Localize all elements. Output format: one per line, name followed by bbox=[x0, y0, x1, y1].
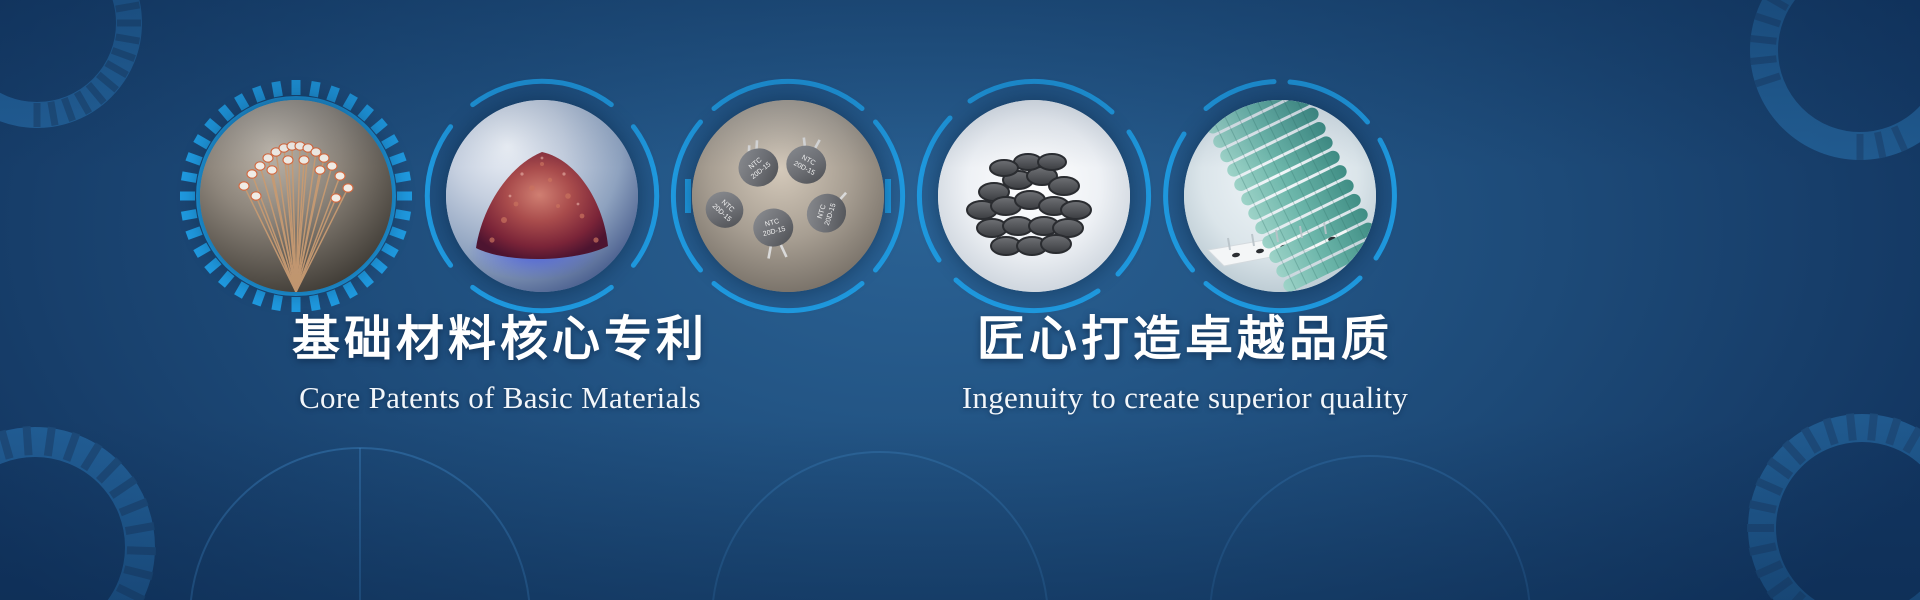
headline-cn: 匠心打造卓越品质 bbox=[810, 310, 1560, 370]
headline-en: Core Patents of Basic Materials bbox=[150, 376, 850, 420]
photo-coated-resistors bbox=[1184, 100, 1376, 292]
bottom-right-arc-icon bbox=[1200, 436, 1540, 600]
product-circle-coated-resistors[interactable] bbox=[1170, 86, 1390, 306]
product-circle-ntc-thermistors[interactable]: NTC 20D-15 NTC 20D-15 bbox=[678, 86, 898, 306]
bottom-left-gear-icon bbox=[0, 412, 170, 600]
product-circle-lead-wires[interactable] bbox=[186, 86, 406, 306]
product-circle-row: NTC 20D-15 NTC 20D-15 bbox=[0, 86, 1920, 306]
product-circle-red-powder[interactable] bbox=[432, 86, 652, 306]
photo-ceramic-discs bbox=[938, 100, 1130, 292]
headline-cn: 基础材料核心专利 bbox=[150, 310, 850, 370]
photo-red-powder bbox=[446, 100, 638, 292]
ceramic-disc-art bbox=[938, 100, 1130, 292]
ntc-thermistor-art: NTC 20D-15 NTC 20D-15 bbox=[692, 100, 884, 292]
photo-lead-wires bbox=[200, 100, 392, 292]
bottom-center-arc-icon bbox=[700, 430, 1060, 600]
headline-superior-quality: 匠心打造卓越品质 Ingenuity to create superior qu… bbox=[810, 310, 1560, 420]
coated-resistor-art bbox=[1184, 100, 1376, 292]
bottom-right-gear-icon bbox=[1732, 398, 1920, 600]
photo-ntc-thermistors: NTC 20D-15 NTC 20D-15 bbox=[692, 100, 884, 292]
red-powder-art bbox=[446, 100, 638, 292]
headline-en: Ingenuity to create superior quality bbox=[810, 376, 1560, 420]
photo-inner: NTC 20D-15 NTC 20D-15 bbox=[692, 100, 884, 292]
headline-core-patents: 基础材料核心专利 Core Patents of Basic Materials bbox=[150, 310, 850, 420]
photo-inner bbox=[446, 100, 638, 292]
lead-wires-art bbox=[200, 100, 392, 292]
photo-inner bbox=[938, 100, 1130, 292]
bottom-left-arc-icon bbox=[180, 418, 540, 600]
photo-inner bbox=[1184, 100, 1376, 292]
product-circle-ceramic-discs[interactable] bbox=[924, 86, 1144, 306]
hero-banner: NTC 20D-15 NTC 20D-15 bbox=[0, 0, 1920, 600]
photo-inner bbox=[200, 100, 392, 292]
